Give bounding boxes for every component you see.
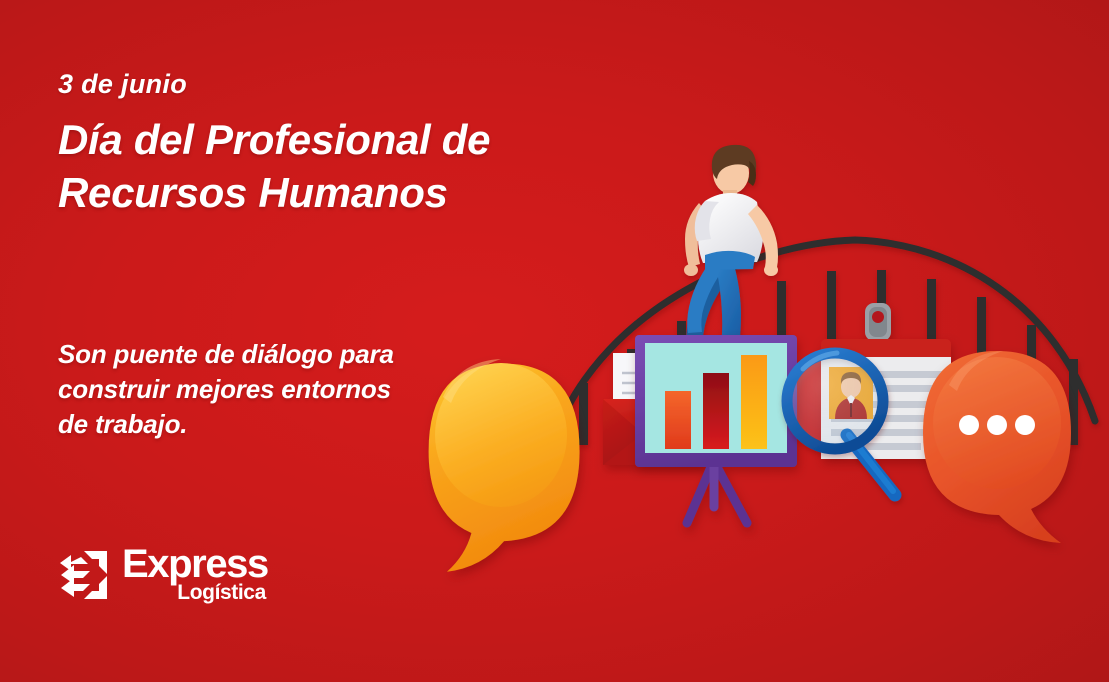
- logo-wordmark: Express Logística: [122, 545, 268, 603]
- bar-3: [741, 355, 767, 449]
- logo-primary-word: Express: [122, 545, 268, 584]
- express-cube-arrows-logo-icon: [58, 548, 110, 602]
- hr-professional-day-poster: 3 de junio Día del Profesional de Recurs…: [0, 0, 1109, 682]
- headline-line-2: Recursos Humanos: [58, 167, 548, 220]
- date-eyebrow: 3 de junio: [58, 70, 548, 100]
- headline-line-1: Día del Profesional de: [58, 114, 548, 167]
- tagline-block: Son puente de diálogo para construir mej…: [58, 337, 498, 442]
- bar-2: [703, 373, 729, 449]
- walking-person-icon: [684, 145, 778, 353]
- tagline-line-1: Son puente de diálogo para: [58, 337, 498, 372]
- headline-block: 3 de junio Día del Profesional de Recurs…: [58, 70, 548, 220]
- bar-1: [665, 391, 691, 449]
- speech-bubble-right-icon: [923, 351, 1071, 543]
- typing-dots: [959, 415, 1035, 435]
- hr-illustration: [455, 135, 1095, 555]
- presentation-board-chart: [635, 335, 797, 523]
- magnifying-glass-icon: [787, 353, 895, 495]
- page-title: Día del Profesional de Recursos Humanos: [58, 114, 548, 220]
- express-logistica-logo[interactable]: Express Logística: [58, 545, 268, 603]
- tagline-line-2: construir mejores entornos: [58, 372, 498, 407]
- tagline-line-3: de trabajo.: [58, 407, 498, 442]
